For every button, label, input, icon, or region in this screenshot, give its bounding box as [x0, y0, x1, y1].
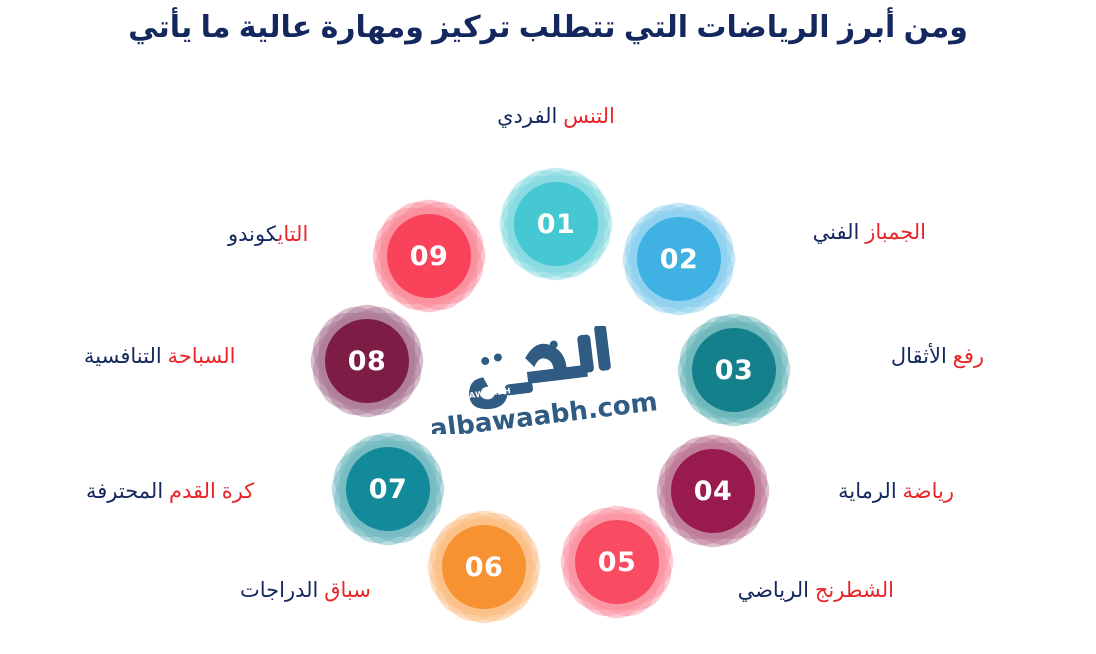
- label-03-highlight: رفع: [953, 345, 984, 368]
- label-09-rest: كوندو: [228, 223, 277, 246]
- badge-number: 01: [537, 211, 576, 238]
- badge-05[interactable]: 05: [555, 500, 679, 624]
- label-01-highlight: التنس: [563, 105, 615, 128]
- label-06-highlight: سباق: [324, 579, 371, 602]
- badge-number: 07: [369, 476, 408, 503]
- badge-02[interactable]: 02: [617, 197, 741, 321]
- badge-number: 02: [660, 246, 699, 273]
- label-08: السباحة التنافسية: [84, 344, 344, 369]
- label-05-rest: الرياضي: [738, 579, 809, 602]
- badge-number: 09: [410, 243, 449, 270]
- label-01-rest: الفردي: [497, 105, 557, 128]
- badge-number: 08: [348, 348, 387, 375]
- badge-03[interactable]: 03: [672, 308, 796, 432]
- label-02-highlight: الجمباز: [865, 221, 926, 244]
- label-05-highlight: الشطرنج: [815, 579, 894, 602]
- label-09: التايكوندو: [228, 222, 408, 247]
- label-08-rest: التنافسية: [84, 345, 162, 368]
- label-06: سباق الدراجات: [240, 578, 508, 603]
- infographic-canvas: ومن أبرز الرياضات التي تتطلب تركيز ومهار…: [0, 0, 1096, 654]
- badge-01[interactable]: 01: [494, 162, 618, 286]
- badge-number: 05: [598, 549, 637, 576]
- label-07-highlight: كرة القدم: [169, 480, 254, 503]
- label-04-highlight: رياضة: [903, 480, 954, 503]
- label-07: كرة القدم المحترفة: [86, 479, 358, 504]
- label-02: الجمباز الفني: [660, 220, 926, 245]
- label-04-rest: الرماية: [838, 480, 897, 503]
- label-07-rest: المحترفة: [86, 480, 163, 503]
- watermark-logo: ALBAWAABH albawaabh.com: [432, 326, 657, 434]
- badge-number: 06: [465, 554, 504, 581]
- badge-core: 01: [514, 182, 598, 266]
- label-01: التنس الفردي: [396, 104, 716, 129]
- label-05: الشطرنج الرياضي: [628, 578, 894, 603]
- label-08-highlight: السباحة: [168, 345, 236, 368]
- label-03-rest: الأثقال: [891, 345, 947, 368]
- label-09-highlight: التاي: [277, 223, 308, 246]
- label-04: رياضة الرماية: [718, 479, 954, 504]
- label-06-rest: الدراجات: [240, 579, 318, 602]
- badge-core: 07: [346, 447, 430, 531]
- badge-core: 03: [692, 328, 776, 412]
- label-02-rest: الفني: [813, 221, 860, 244]
- label-03: رفع الأثقال: [740, 344, 984, 369]
- page-title: ومن أبرز الرياضات التي تتطلب تركيز ومهار…: [0, 8, 1096, 49]
- badge-09[interactable]: 09: [367, 194, 491, 318]
